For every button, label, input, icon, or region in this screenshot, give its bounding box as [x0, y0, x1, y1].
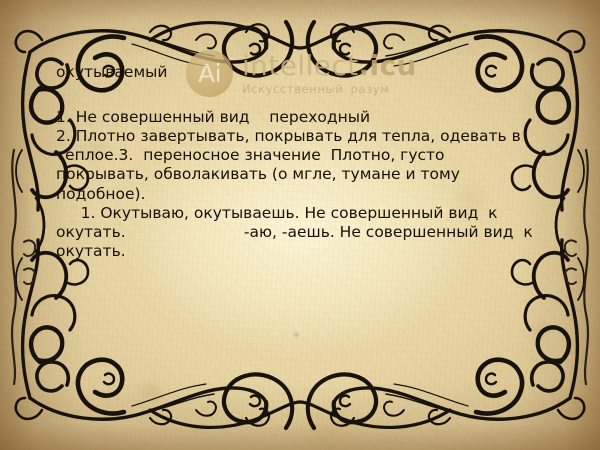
- entry-headword: окутываемый: [56, 64, 542, 82]
- entry-sense-2: 2. Плотно завертывать, покрывать для теп…: [56, 127, 542, 204]
- entry-conjugation: 1. Окутываю, окутываешь. Не совершенный …: [56, 204, 542, 262]
- dictionary-entry: окутываемый 1. Не совершенный вид перехо…: [56, 64, 542, 261]
- slide-canvas: Ai intellect.icu Искусственный разум оку…: [0, 0, 600, 450]
- entry-sense-1: 1. Не совершенный вид переходный: [56, 108, 542, 127]
